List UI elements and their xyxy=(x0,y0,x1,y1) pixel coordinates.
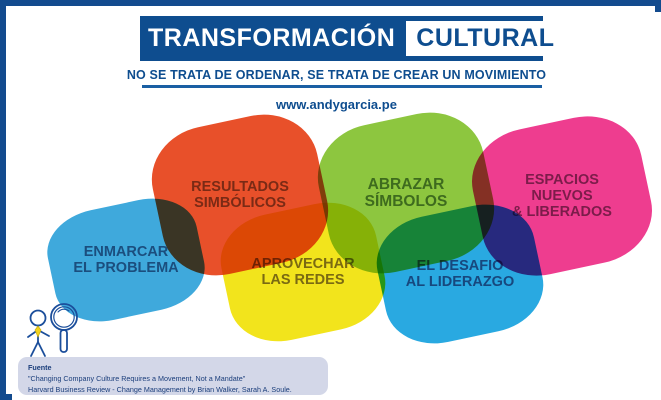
blob-shape-desafio xyxy=(368,195,551,353)
source-box: Fuente "Changing Company Culture Require… xyxy=(18,357,328,395)
blob-redes: APROVECHARLAS REDES xyxy=(224,208,382,336)
source-line-1: "Changing Company Culture Requires a Mov… xyxy=(28,373,328,384)
poster-canvas: TRANSFORMACIÓN CULTURAL NO SE TRATA DE O… xyxy=(12,12,661,400)
source-line-2: Harvard Business Review - Change Managem… xyxy=(28,384,328,395)
blob-desafio: EL DESAFIOAL LIDERAZGO xyxy=(380,210,540,338)
poster-frame: TRANSFORMACIÓN CULTURAL NO SE TRATA DE O… xyxy=(0,0,661,400)
source-heading: Fuente xyxy=(28,362,328,373)
blob-shape-redes xyxy=(212,193,393,351)
venn-diagram: ENMARCAREL PROBLEMARESULTADOSSIMBÓLICOSA… xyxy=(12,12,661,400)
magnifying-glass-person-icon xyxy=(20,292,92,364)
